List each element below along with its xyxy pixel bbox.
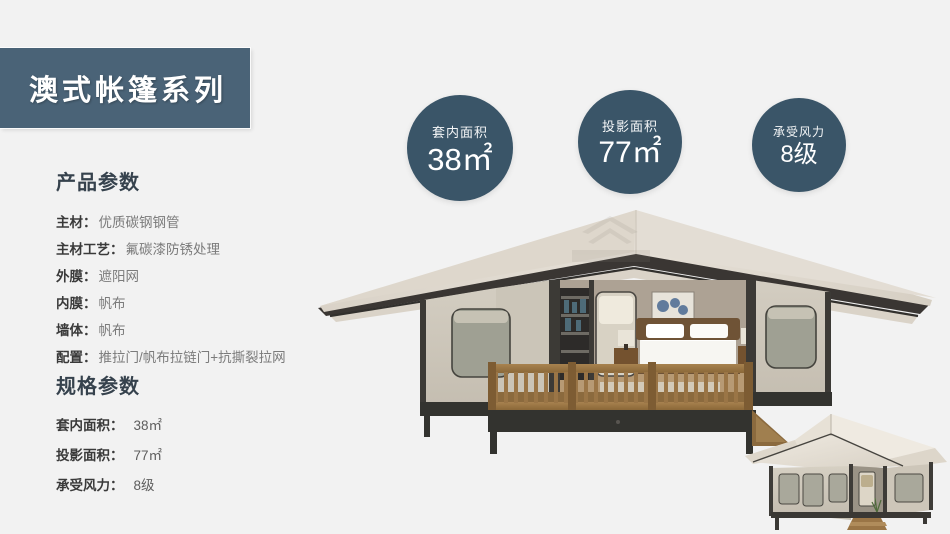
param-key: 主材工艺： xyxy=(56,242,124,257)
stat-badge-wind-resistance: 承受风力 8级 xyxy=(752,98,846,192)
param-key: 内膜： xyxy=(56,296,97,311)
spec-value: 77㎡ xyxy=(134,448,163,463)
param-value: 氟碳漆防锈处理 xyxy=(126,242,221,257)
stat-badge-projected-area: 投影面积 77㎡ xyxy=(578,90,682,194)
stat-badge-value: 8级 xyxy=(780,143,817,167)
slide-canvas: 澳式帐篷系列 产品参数 主材：优质碳钢钢管 主材工艺：氟碳漆防锈处理 外膜：遮阳… xyxy=(0,0,950,534)
param-key: 主材： xyxy=(56,215,97,230)
stat-badge-value: 38㎡ xyxy=(427,144,492,175)
param-key: 墙体： xyxy=(56,323,97,338)
param-value: 帆布 xyxy=(99,296,126,311)
param-value: 帆布 xyxy=(99,323,126,338)
spec-key: 承受风力： xyxy=(56,478,124,493)
tent-right-wall xyxy=(749,280,832,406)
mini-tent-graphic xyxy=(735,408,950,534)
stat-badge-interior-area: 套内面积 38㎡ xyxy=(407,95,513,201)
mini-tent-illustration xyxy=(735,408,950,534)
stat-badge-label: 承受风力 xyxy=(773,123,825,140)
param-value: 优质碳钢钢管 xyxy=(99,215,180,230)
page-title: 澳式帐篷系列 xyxy=(23,67,227,109)
stat-badge-label: 套内面积 xyxy=(432,122,488,141)
param-value: 遮阳网 xyxy=(99,269,140,284)
param-key: 配置： xyxy=(56,350,97,365)
spec-key: 投影面积： xyxy=(56,448,124,463)
param-key: 外膜： xyxy=(56,269,97,284)
param-value: 推拉门/帆布拉链门+抗撕裂拉网 xyxy=(99,350,286,365)
spec-key: 套内面积： xyxy=(56,418,124,433)
stat-badge-value: 77㎡ xyxy=(598,138,661,168)
title-banner: 澳式帐篷系列 xyxy=(0,48,250,128)
spec-value: 8级 xyxy=(134,478,155,493)
stat-badge-label: 投影面积 xyxy=(602,116,658,135)
spec-value: 38㎡ xyxy=(134,418,163,433)
product-parameters-heading: 产品参数 xyxy=(56,166,376,195)
